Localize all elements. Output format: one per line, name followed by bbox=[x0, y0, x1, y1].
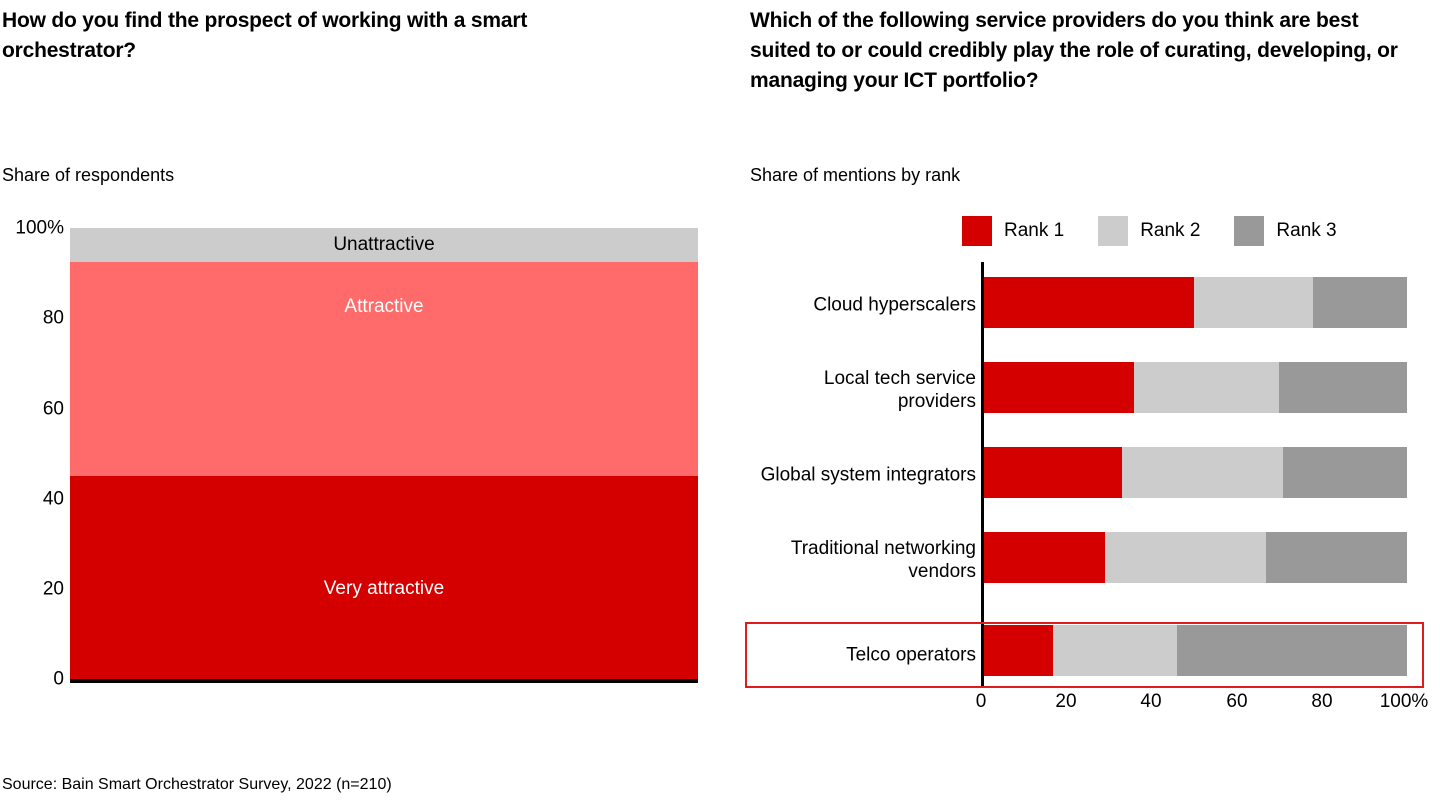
category-label-telco-operators: Telco operators bbox=[750, 644, 976, 667]
category-label-local-tech-service-providers: Local tech service providers bbox=[750, 367, 976, 413]
bar-row-telco-operators[interactable] bbox=[981, 625, 1407, 676]
category-label-global-system-integrators: Global system integrators bbox=[750, 464, 976, 487]
bar-seg-rank3[interactable] bbox=[1266, 532, 1407, 583]
y-tick-100: 100% bbox=[0, 219, 64, 238]
bar-seg-rank2[interactable] bbox=[1053, 625, 1177, 676]
legend-item-rank-3[interactable]: Rank 3 bbox=[1234, 216, 1336, 246]
x-tick-60: 60 bbox=[1226, 692, 1247, 711]
bar-seg-rank1[interactable] bbox=[981, 277, 1194, 328]
y-tick-20: 20 bbox=[0, 580, 64, 599]
left-stacked-column: Unattractive Attractive Very attractive bbox=[70, 228, 698, 679]
segment-very-attractive[interactable]: Very attractive bbox=[70, 476, 698, 679]
x-tick-100: 100% bbox=[1380, 692, 1429, 711]
legend-swatch-rank-3-icon bbox=[1234, 216, 1264, 246]
left-chart-title: How do you find the prospect of working … bbox=[2, 6, 562, 66]
bar-seg-rank1[interactable] bbox=[981, 362, 1134, 413]
bar-seg-rank3[interactable] bbox=[1313, 277, 1407, 328]
legend-label-rank-3: Rank 3 bbox=[1276, 220, 1336, 242]
bar-row-global-system-integrators[interactable] bbox=[981, 447, 1407, 498]
segment-label-unattractive: Unattractive bbox=[333, 234, 434, 256]
x-tick-40: 40 bbox=[1140, 692, 1161, 711]
bar-seg-rank1[interactable] bbox=[981, 447, 1122, 498]
segment-unattractive[interactable]: Unattractive bbox=[70, 228, 698, 262]
bar-seg-rank3[interactable] bbox=[1177, 625, 1407, 676]
left-exhibit-panel: How do you find the prospect of working … bbox=[0, 0, 740, 810]
legend-item-rank-2[interactable]: Rank 2 bbox=[1098, 216, 1200, 246]
bar-seg-rank2[interactable] bbox=[1122, 447, 1284, 498]
bar-seg-rank2[interactable] bbox=[1134, 362, 1279, 413]
bar-row-traditional-networking-vendors[interactable] bbox=[981, 532, 1407, 583]
y-tick-40: 40 bbox=[0, 490, 64, 509]
bar-seg-rank2[interactable] bbox=[1194, 277, 1313, 328]
bar-seg-rank1[interactable] bbox=[981, 532, 1105, 583]
bar-row-cloud-hyperscalers[interactable] bbox=[981, 277, 1407, 328]
legend-label-rank-2: Rank 2 bbox=[1140, 220, 1200, 242]
right-exhibit-panel: Which of the following service providers… bbox=[740, 0, 1440, 810]
category-label-traditional-networking-vendors: Traditional networking vendors bbox=[750, 537, 976, 583]
right-category-labels: Cloud hyperscalers Local tech service pr… bbox=[740, 0, 976, 810]
segment-label-very-attractive: Very attractive bbox=[324, 578, 444, 600]
bar-seg-rank2[interactable] bbox=[1105, 532, 1267, 583]
rank-legend: Rank 1 Rank 2 Rank 3 bbox=[962, 216, 1371, 246]
source-note: Source: Bain Smart Orchestrator Survey, … bbox=[2, 775, 392, 795]
bar-seg-rank3[interactable] bbox=[1283, 447, 1407, 498]
category-label-cloud-hyperscalers: Cloud hyperscalers bbox=[750, 294, 976, 317]
bar-seg-rank1[interactable] bbox=[981, 625, 1053, 676]
y-tick-80: 80 bbox=[0, 309, 64, 328]
x-tick-20: 20 bbox=[1055, 692, 1076, 711]
bar-row-local-tech-service-providers[interactable] bbox=[981, 362, 1407, 413]
x-tick-80: 80 bbox=[1311, 692, 1332, 711]
segment-label-attractive: Attractive bbox=[344, 296, 423, 318]
y-tick-0: 0 bbox=[0, 670, 64, 689]
legend-swatch-rank-2-icon bbox=[1098, 216, 1128, 246]
y-tick-60: 60 bbox=[0, 400, 64, 419]
right-y-axis-line bbox=[981, 262, 984, 687]
x-tick-0: 0 bbox=[976, 692, 987, 711]
legend-label-rank-1: Rank 1 bbox=[1004, 220, 1064, 242]
segment-attractive[interactable]: Attractive bbox=[70, 262, 698, 476]
left-x-axis-line bbox=[70, 679, 698, 683]
right-stacked-bars bbox=[981, 277, 1407, 677]
left-y-axis-ticks: 100% 80 60 40 20 0 bbox=[0, 0, 64, 810]
legend-item-rank-1[interactable]: Rank 1 bbox=[962, 216, 1064, 246]
bar-seg-rank3[interactable] bbox=[1279, 362, 1407, 413]
